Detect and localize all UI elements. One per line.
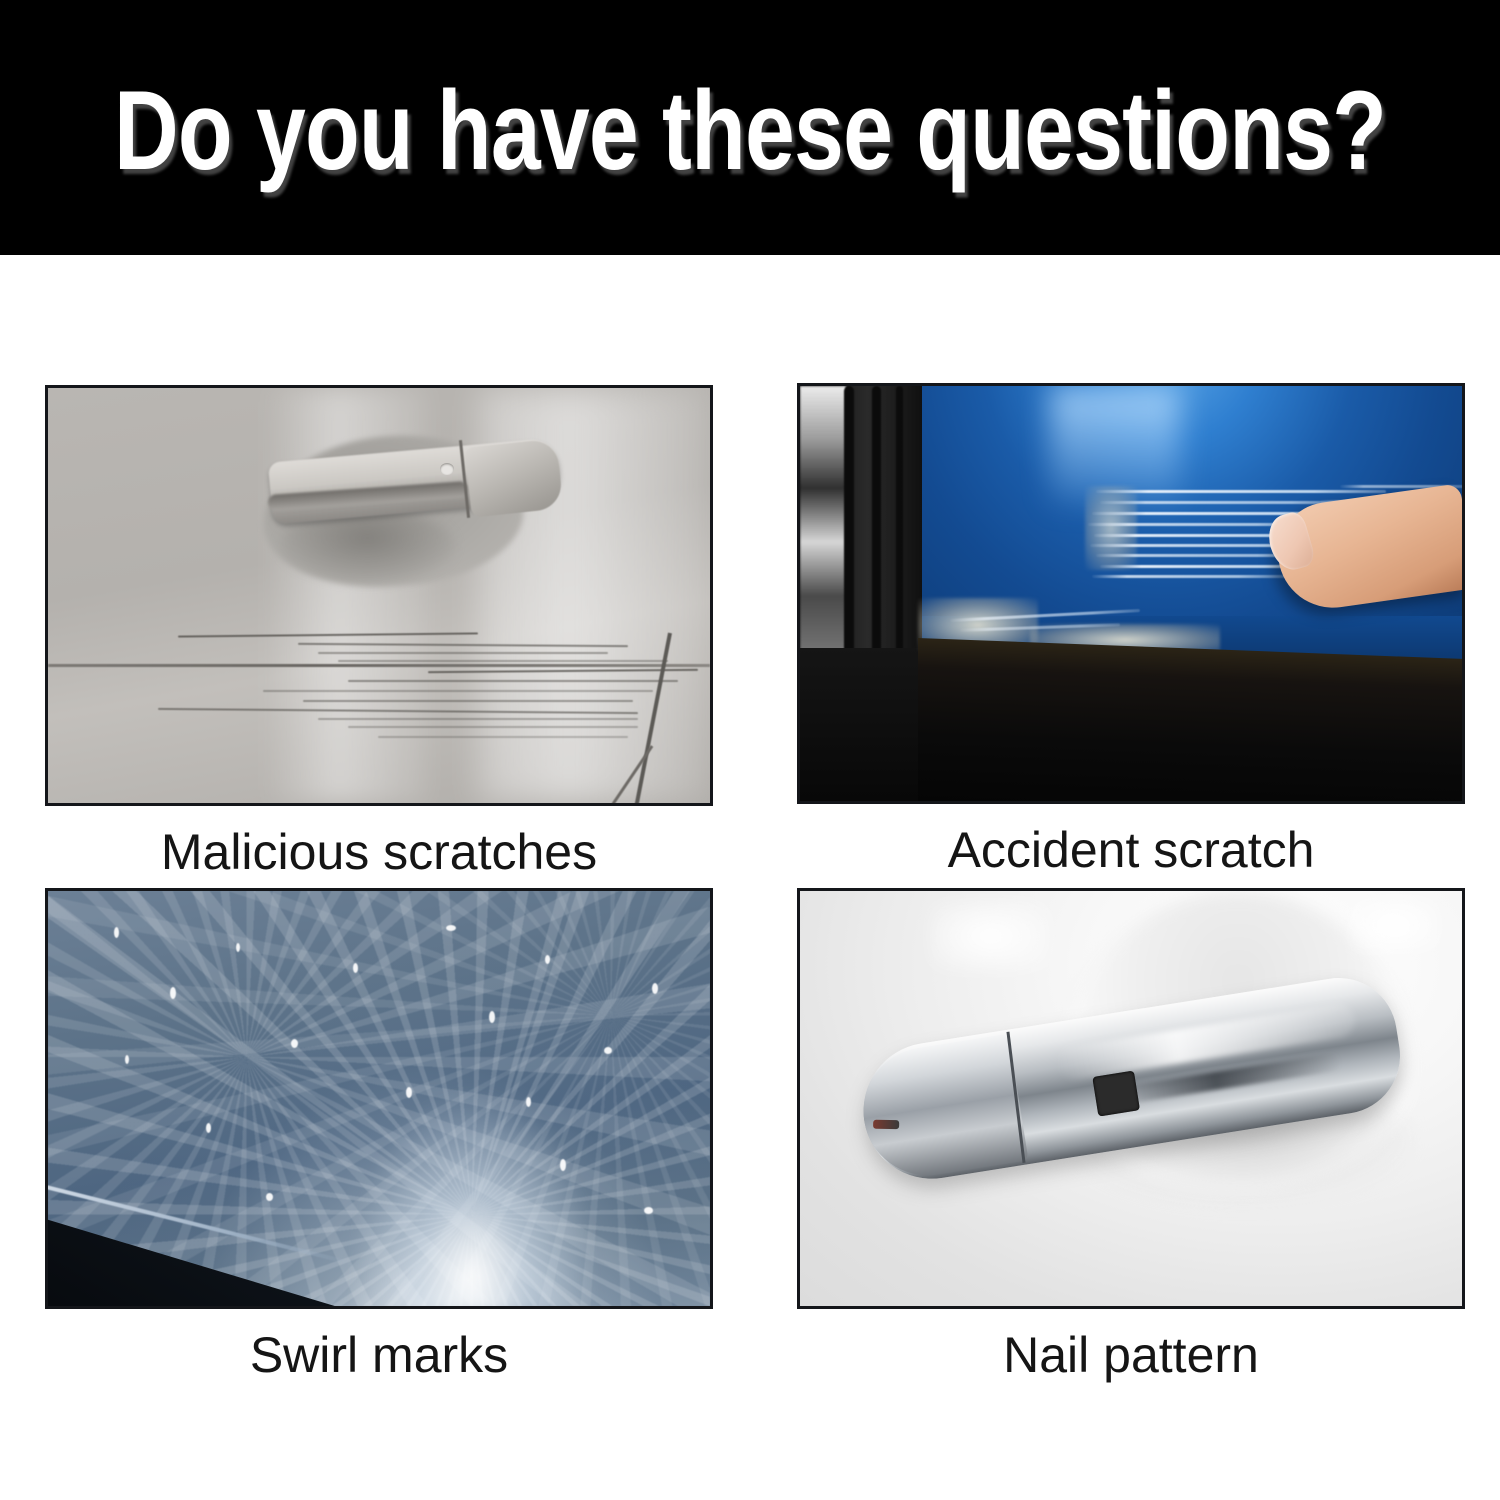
scratch-line — [263, 690, 653, 692]
paint-speck — [560, 1159, 566, 1171]
paint-speck — [170, 987, 176, 999]
photo-swirl-marks — [45, 888, 713, 1309]
caption-nail-pattern: Nail pattern — [797, 1326, 1465, 1384]
photo-malicious-scratches — [45, 385, 713, 806]
door-lock-hole — [440, 463, 454, 475]
paint-speck — [114, 927, 119, 938]
door-handle-tip — [465, 438, 564, 517]
paint-speck — [206, 1123, 211, 1133]
paint-speck — [489, 1011, 495, 1023]
panel-grid: Malicious scratches — [0, 255, 1500, 1500]
keyless-entry-sensor — [1092, 1071, 1140, 1117]
paint-speck — [526, 1097, 531, 1107]
sun-glint — [348, 1086, 598, 1309]
panel-swirl-marks[interactable]: Swirl marks — [45, 888, 713, 1384]
scratch-line — [348, 680, 678, 682]
paint-speck — [266, 1193, 273, 1201]
page-title: Do you have these questions? — [114, 69, 1386, 187]
paint-glare-left — [930, 901, 1050, 971]
paint-speck — [604, 1047, 612, 1054]
paint-speck — [353, 963, 358, 973]
scratch-line — [348, 726, 638, 728]
paint-glare-right — [1350, 897, 1440, 953]
scratch-line — [1092, 575, 1287, 578]
paint-speck — [644, 1207, 653, 1214]
paint-speck — [406, 1087, 412, 1098]
photo-nail-pattern — [797, 888, 1465, 1309]
caption-malicious-scratches: Malicious scratches — [45, 823, 713, 881]
caption-swirl-marks: Swirl marks — [45, 1326, 713, 1384]
panel-accident-scratch[interactable]: Accident scratch — [797, 383, 1465, 879]
body-crease-line — [48, 664, 710, 667]
scratch-line — [1096, 490, 1386, 493]
paint-speck — [291, 1039, 298, 1048]
paint-speck — [652, 983, 658, 994]
paint-scuff — [1085, 486, 1137, 570]
rocker-panel — [918, 638, 1462, 804]
header-banner: Do you have these questions? — [0, 0, 1500, 255]
paint-speck — [125, 1055, 129, 1064]
panel-malicious-scratches[interactable]: Malicious scratches — [45, 385, 713, 881]
scratch-line — [378, 736, 628, 738]
panel-nail-pattern[interactable]: Nail pattern — [797, 888, 1465, 1384]
chrome-handle-cap — [854, 1034, 1028, 1185]
scratch-line — [303, 700, 633, 702]
scratch-line — [318, 652, 608, 654]
scratch-line — [318, 718, 638, 720]
key-slot — [873, 1120, 899, 1129]
scratch-line — [338, 660, 668, 662]
caption-accident-scratch: Accident scratch — [797, 821, 1465, 879]
wheel-rim — [800, 386, 846, 686]
paint-speck — [446, 925, 456, 931]
paint-speck — [545, 955, 550, 964]
photo-accident-scratch — [797, 383, 1465, 804]
paint-speck — [236, 943, 240, 952]
